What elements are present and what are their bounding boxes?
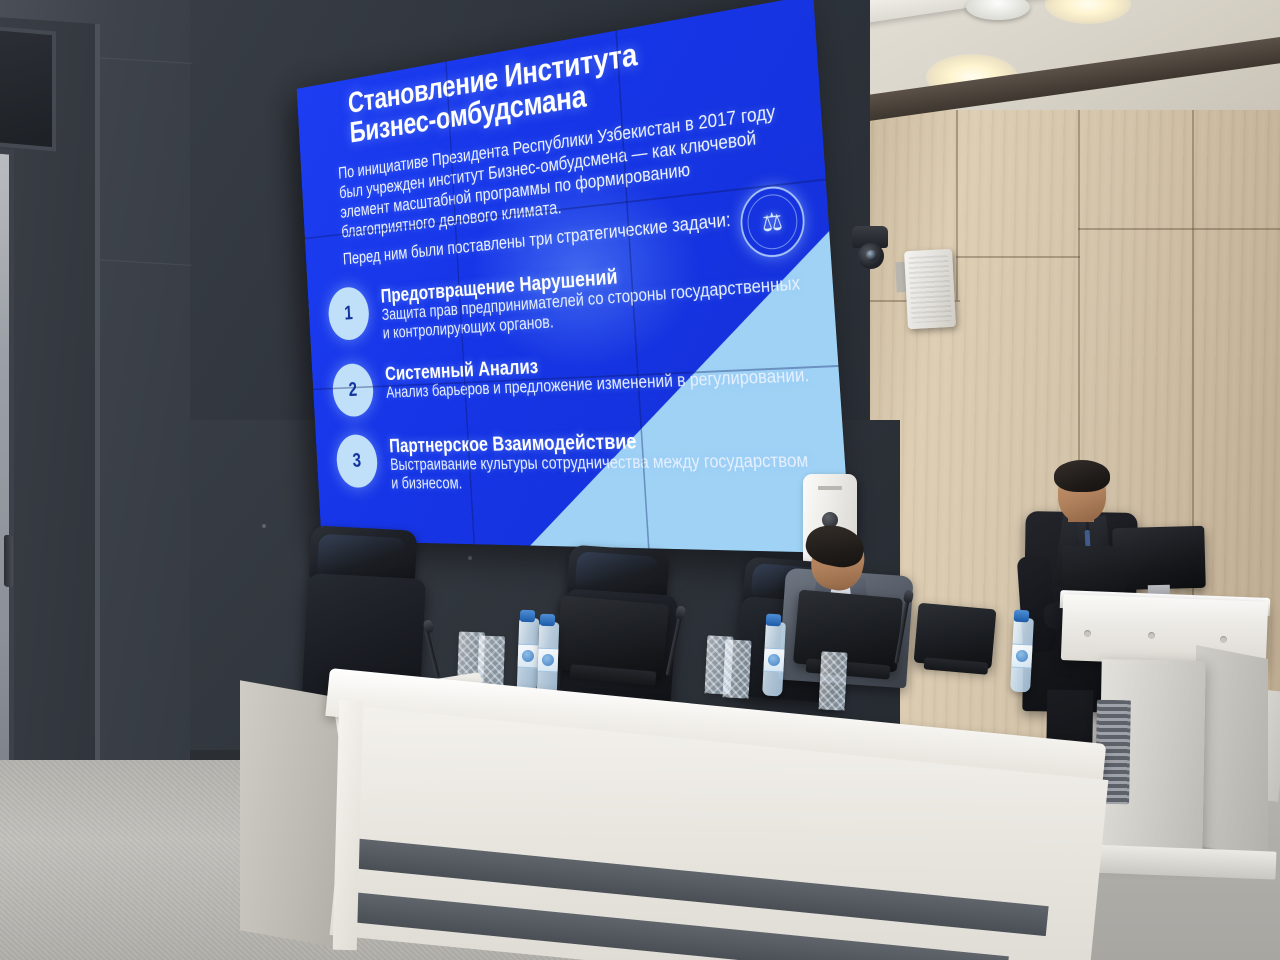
drinking-glass[interactable] [723, 639, 752, 698]
chair-highlight [317, 534, 407, 583]
panel-seam [956, 256, 1080, 258]
slide-content: Становление Института Бизнес-омбудсмана … [297, 0, 851, 553]
bottle-logo-icon [522, 650, 534, 662]
ac-brand-mark [818, 486, 842, 490]
podium-monitor[interactable] [1112, 526, 1206, 590]
bottle-label [518, 644, 539, 669]
bottle-label [538, 648, 559, 673]
door-handle[interactable] [4, 535, 13, 588]
bottle-logo-icon [1016, 650, 1029, 663]
bottle-label [1011, 643, 1032, 668]
bottle-logo-icon [768, 654, 781, 667]
list-item-text: Партнерское Взаимодействие Выстраивание … [389, 424, 824, 495]
podium-screw [1084, 630, 1091, 637]
water-bottle[interactable] [537, 622, 560, 697]
wall-fixing-screw [262, 524, 266, 528]
conference-hall-photo: Становление Института Бизнес-омбудсмана … [0, 0, 1280, 960]
bottle-label [763, 647, 784, 672]
wall-fixing-screw [468, 556, 472, 560]
speaker-grill [908, 255, 951, 323]
bottle-logo-icon [542, 654, 554, 666]
list-item-subtext: Выстраивание культуры сотрудничества меж… [390, 451, 823, 495]
person-hair [1054, 460, 1110, 492]
bottle-cap[interactable] [766, 614, 782, 627]
bottle-cap[interactable] [540, 614, 555, 627]
wall-seam [96, 57, 192, 64]
water-bottle[interactable] [517, 618, 540, 693]
panel-seam [1078, 228, 1280, 230]
bullet-number-circle: 3 [335, 434, 378, 487]
wall-speaker-icon [904, 249, 956, 329]
bullet-number-circle: 2 [331, 363, 374, 418]
chair-highlight [575, 551, 660, 597]
panel-seam [956, 110, 958, 300]
bottle-cap[interactable] [520, 610, 535, 623]
video-wall-screen: Становление Института Бизнес-омбудсмана … [297, 0, 851, 553]
led-video-wall[interactable]: Становление Института Бизнес-омбудсмана … [297, 0, 851, 553]
camera-lens-icon [866, 250, 877, 261]
glass-cut-pattern [819, 651, 848, 710]
seal-inner-ring [746, 192, 799, 252]
podium-screw [1148, 632, 1155, 639]
list-item-text: Предотвращение Нарушений Защита прав пре… [380, 246, 811, 344]
list-item: 3 Партнерское Взаимодействие Выстраивани… [335, 424, 823, 495]
bullet-number-circle: 1 [327, 285, 370, 341]
water-bottle[interactable] [762, 622, 786, 697]
glass-cut-pattern [723, 639, 752, 698]
transom-window [0, 25, 56, 152]
drinking-glass[interactable] [819, 651, 848, 710]
bottle-cap[interactable] [1014, 610, 1030, 623]
water-bottle[interactable] [1010, 618, 1034, 693]
podium-screw [1220, 636, 1227, 643]
wall-seam [96, 259, 192, 266]
entrance-door[interactable] [0, 146, 14, 840]
podium-side-panel [1196, 645, 1268, 859]
